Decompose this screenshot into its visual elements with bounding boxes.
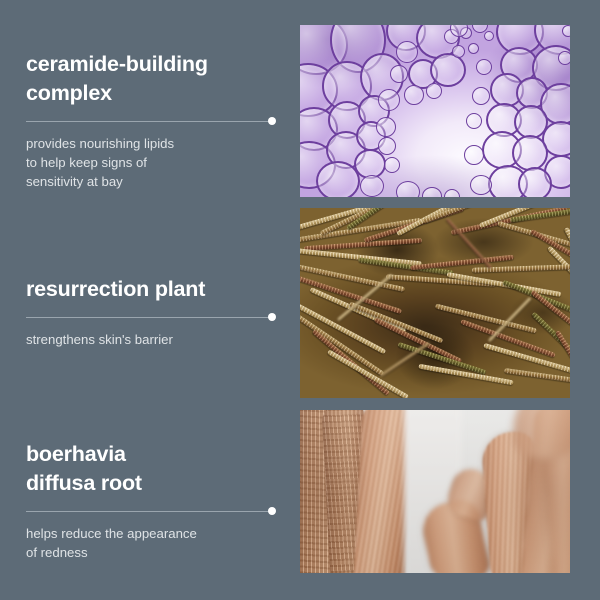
ingredient-image-resurrection-plant [300, 208, 570, 398]
ingredient-image-ceramide-building-complex [300, 25, 570, 197]
ingredient-title: boerhavia diffusa root [26, 440, 278, 498]
ingredient-block-boerhavia-diffusa-root: boerhavia diffusa root helps reduce the … [26, 440, 278, 562]
ingredient-divider [26, 115, 278, 129]
divider-dot-icon [268, 507, 276, 515]
ingredient-block-ceramide-building-complex: ceramide-building complex provides nouri… [26, 50, 278, 191]
divider-dot-icon [268, 117, 276, 125]
ingredient-description: strengthens skin's barrier [26, 330, 278, 349]
divider-line [26, 121, 269, 122]
ingredient-block-resurrection-plant: resurrection plant strengthens skin's ba… [26, 275, 278, 349]
ingredient-title: resurrection plant [26, 275, 278, 304]
ingredient-benefits-panel: ceramide-building complex provides nouri… [0, 0, 600, 600]
ingredient-divider [26, 311, 278, 325]
ingredient-title: ceramide-building complex [26, 50, 278, 108]
divider-line [26, 511, 269, 512]
purple-bubble-microscopy-photo [300, 25, 570, 197]
ingredient-divider [26, 505, 278, 519]
divider-dot-icon [268, 313, 276, 321]
ingredient-image-boerhavia-diffusa-root [300, 410, 570, 573]
ingredient-description: provides nourishing lipids to help keep … [26, 134, 278, 191]
divider-line [26, 317, 269, 318]
dried-resurrection-plant-fronds-photo [300, 208, 570, 398]
ingredient-description: helps reduce the appearance of redness [26, 524, 278, 562]
boerhavia-diffusa-root-pieces-photo [300, 410, 570, 573]
